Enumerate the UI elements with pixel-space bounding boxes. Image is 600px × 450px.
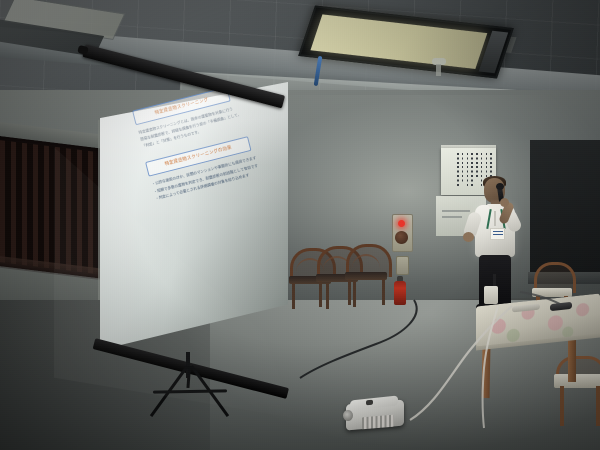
presenter-hand-right xyxy=(500,198,509,207)
alarm-bell-icon xyxy=(395,231,408,244)
alarm-light-icon xyxy=(398,220,405,227)
projector-lens-icon xyxy=(343,410,353,421)
chair-leg-right xyxy=(326,283,329,309)
name-badge xyxy=(490,228,505,240)
chair-leg-left xyxy=(348,279,351,305)
chair-leg-right xyxy=(353,281,356,307)
projection-screen: 特定建造物スクリーニング 特定建造物スクリーニングとは、既存の建築物を対象に行う… xyxy=(72,38,287,358)
table-leg-front xyxy=(482,344,491,398)
room-photo-scene: 特定建造物スクリーニング 特定建造物スクリーニングとは、既存の建築物を対象に行う… xyxy=(0,0,600,450)
presenter-placket xyxy=(494,211,496,226)
projector-vent xyxy=(362,415,394,430)
poster-line xyxy=(442,216,462,218)
side-table[interactable] xyxy=(476,300,600,398)
chair-seat xyxy=(345,272,387,280)
projector[interactable] xyxy=(346,398,408,434)
chair-leg-right xyxy=(382,279,385,305)
right-dark-window xyxy=(530,140,600,280)
chair-leg-left xyxy=(292,283,295,309)
chair-leg-left xyxy=(319,281,322,307)
screen-shading xyxy=(100,82,288,350)
sprinkler-stem xyxy=(436,64,441,76)
projector-focus-knob[interactable] xyxy=(366,400,373,406)
alarm-call-point[interactable] xyxy=(396,256,409,275)
table-item-paper[interactable] xyxy=(484,286,498,304)
presenter-hand-left xyxy=(463,232,474,242)
microphone-head xyxy=(496,183,504,190)
fire-extinguisher-icon[interactable] xyxy=(394,281,406,305)
